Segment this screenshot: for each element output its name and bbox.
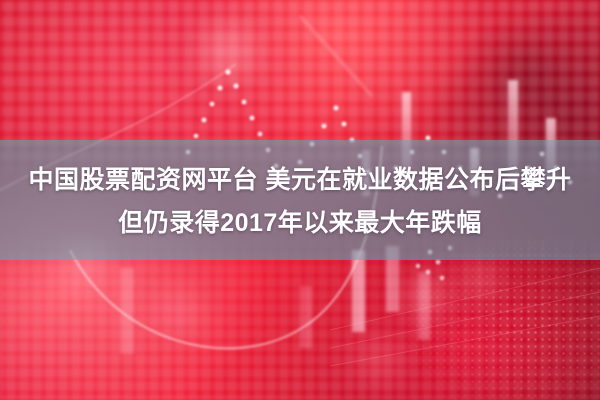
headline-line-2: 但仍录得2017年以来最大年跌幅 (0, 203, 600, 244)
trend-ray (300, 16, 372, 96)
news-banner-image: 中国股票配资网平台 美元在就业数据公布后攀升 但仍录得2017年以来最大年跌幅 (0, 0, 600, 400)
headline-line-1: 中国股票配资网平台 美元在就业数据公布后攀升 (0, 160, 600, 201)
perspective-gridlines (330, 268, 600, 366)
